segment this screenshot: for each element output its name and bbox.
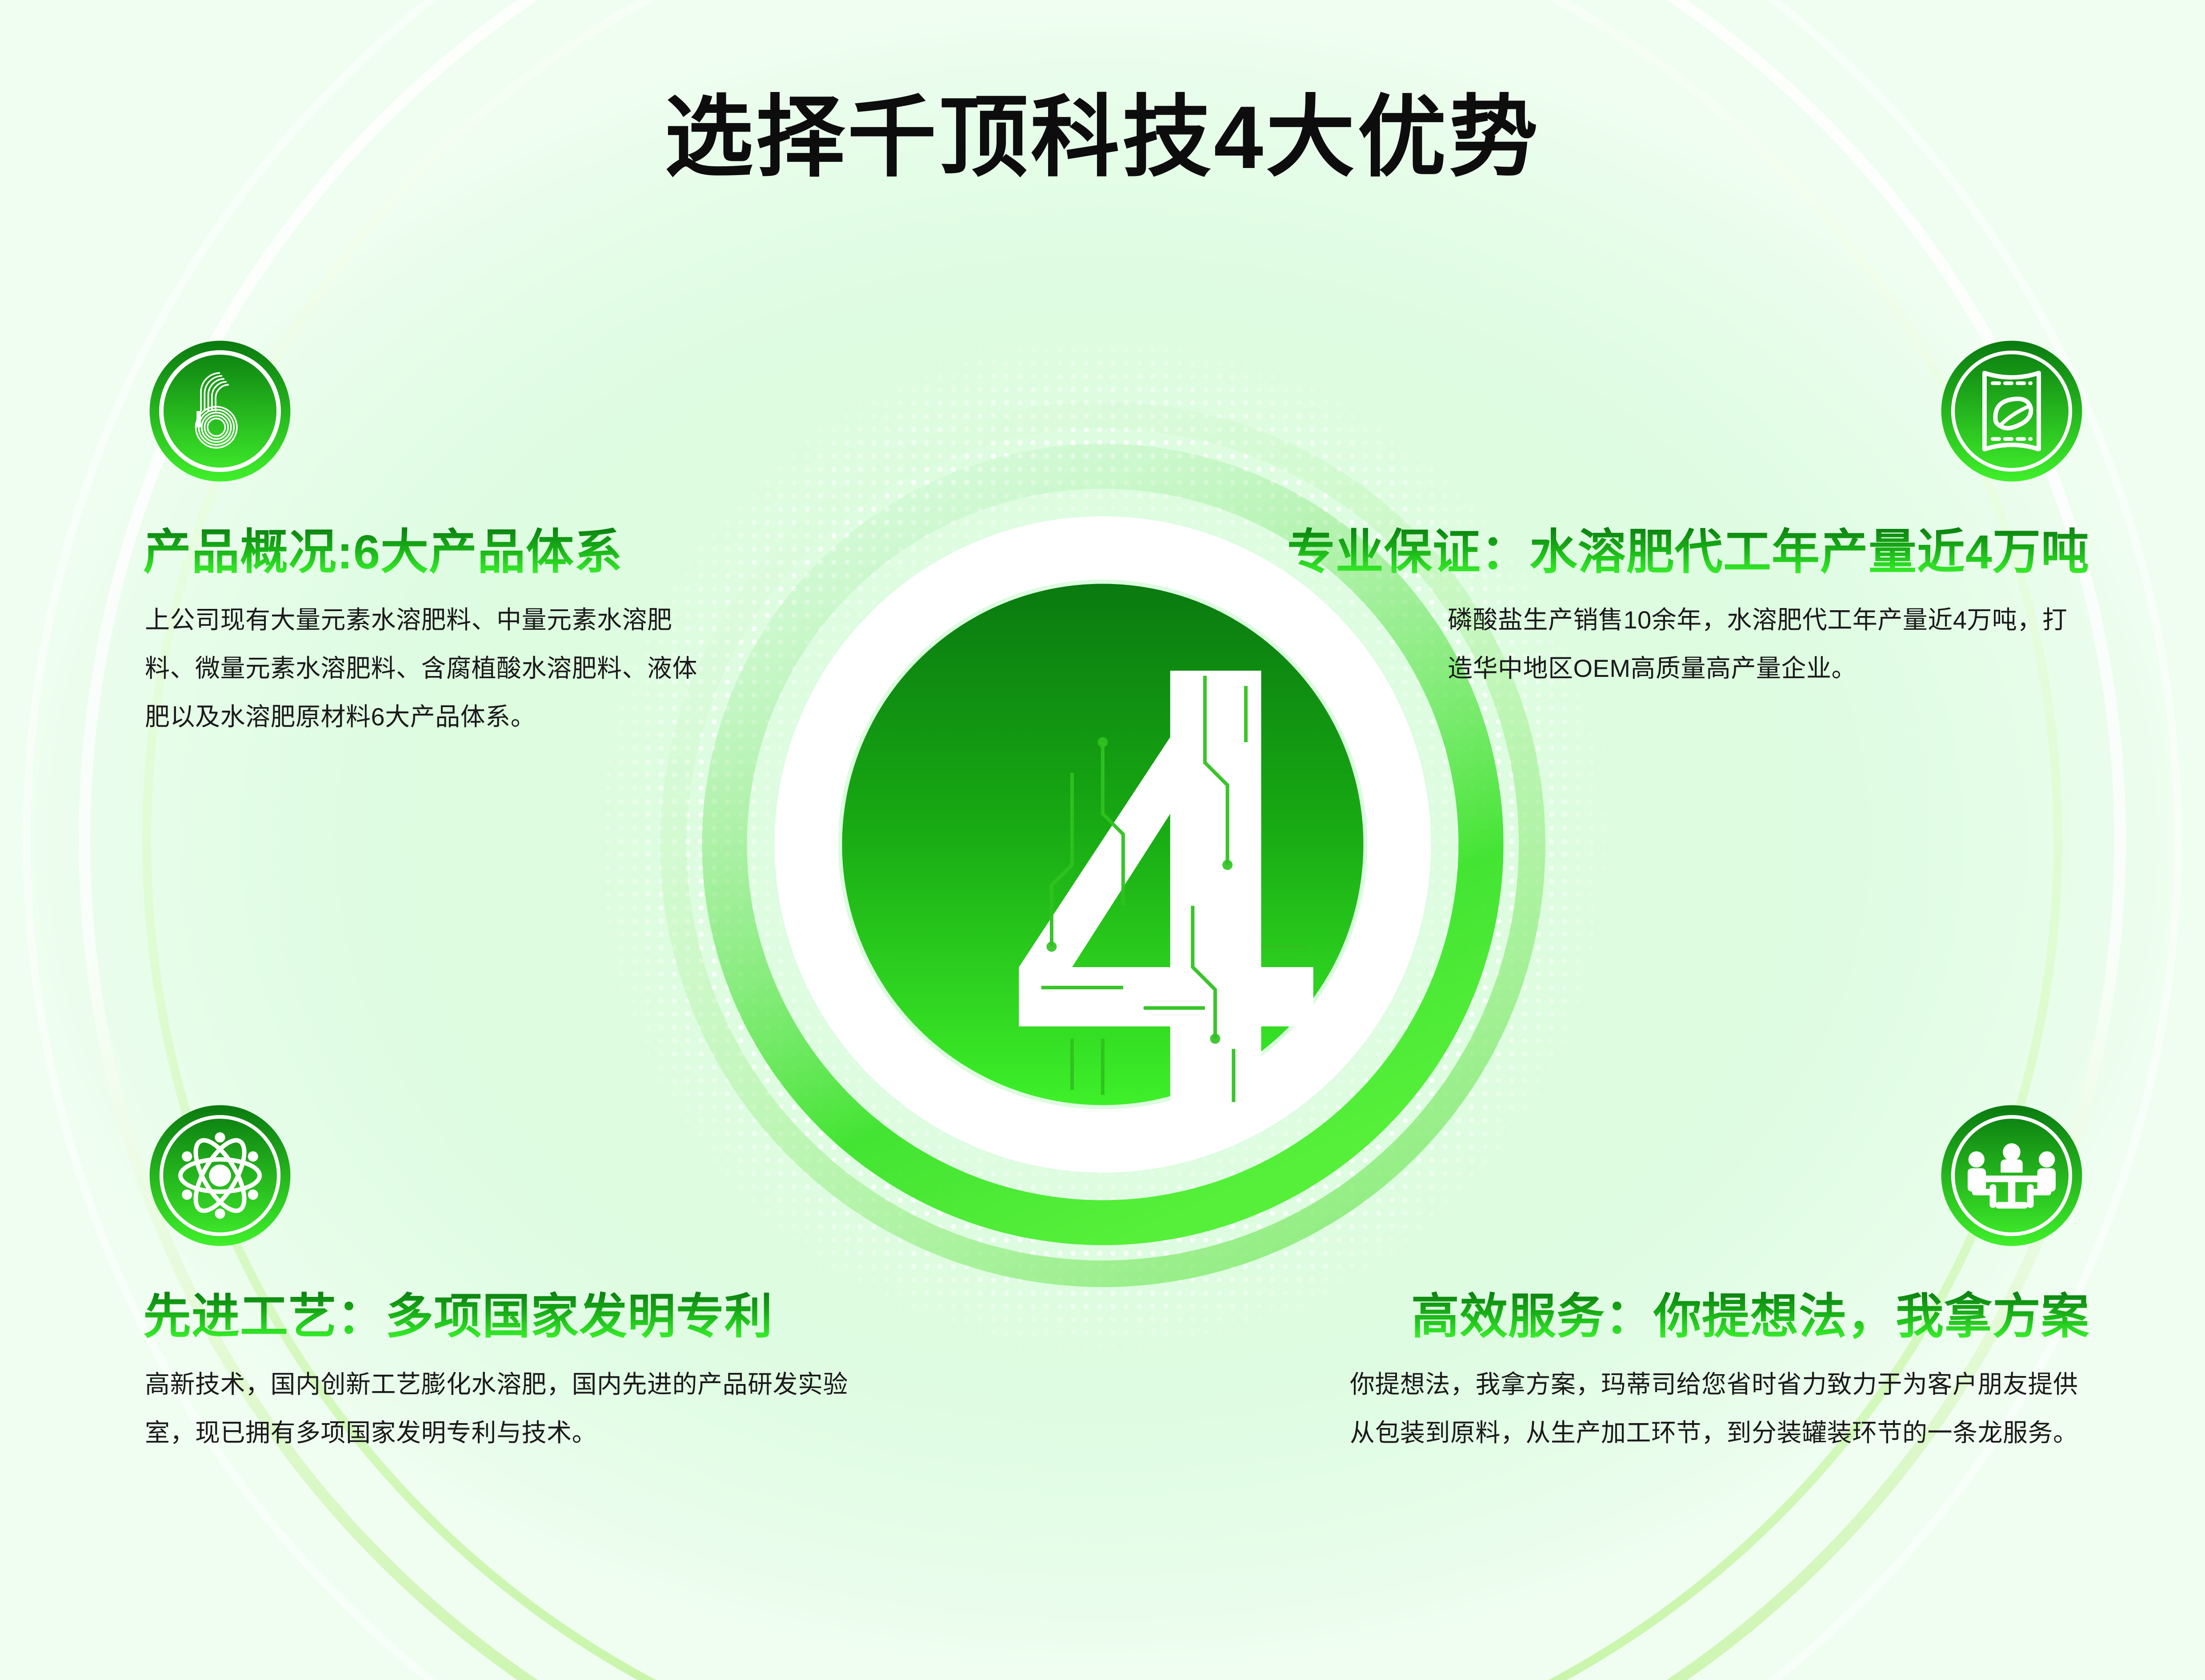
fertilizer-bag-leaf-icon xyxy=(1938,338,2085,484)
advantage-body: 上公司现有大量元素水溶肥料、中量元素水溶肥料、微量元素水溶肥料、含腐植酸水溶肥料… xyxy=(145,596,709,741)
meeting-table-people-icon xyxy=(1938,1102,2085,1249)
number-six-rings-icon xyxy=(147,338,293,484)
advantage-headline: 高效服务：你提想法，我拿方案 xyxy=(1411,1289,2089,1344)
advantage-headline: 专业保证：水溶肥代工年产量近4万吨 xyxy=(1287,524,2089,580)
advantage-headline: 先进工艺：多项国家发明专利 xyxy=(143,1289,773,1344)
atom-icon xyxy=(147,1102,293,1249)
advantage-headline: 产品概况:6大产品体系 xyxy=(143,524,623,580)
advantage-body: 你提想法，我拿方案，玛蒂司给您省时省力致力于为客户朋友提供从包装到原料，从生产加… xyxy=(1350,1360,2088,1457)
page-title: 选择千顶科技4大优势 xyxy=(0,89,2205,187)
poster-canvas: 选择千顶科技4大优势 xyxy=(0,0,2205,1680)
advantage-body: 磷酸盐生产销售10余年，水溶肥代工年产量近4万吨，打造华中地区OEM高质量高产量… xyxy=(1448,596,2088,692)
center-medallion xyxy=(592,333,1614,1356)
advantage-body: 高新技术，国内创新工艺膨化水溶肥，国内先进的产品研发实验室，现已拥有多项国家发明… xyxy=(145,1360,892,1457)
